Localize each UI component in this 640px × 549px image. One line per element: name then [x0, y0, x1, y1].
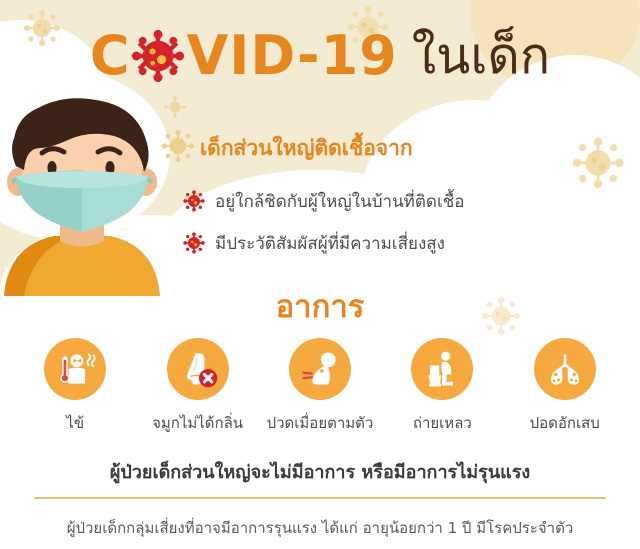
virus-icon: [570, 135, 626, 191]
symptom-label: ปวดเมื่อยตามตัว: [267, 411, 374, 435]
symptom-label: ไข้: [66, 411, 84, 435]
list-item-label: มีประวัติสัมผัสผู้ที่มีความเสี่ยงสูง: [215, 230, 445, 257]
symptoms-list: ไข้ จมูกไม่ได้กลิ่น: [0, 338, 640, 435]
symptom-item-no-smell: จมูกไม่ได้กลิ่น: [139, 338, 257, 435]
list-item: มีประวัติสัมผัสผู้ที่มีความเสี่ยงสูง: [183, 230, 465, 256]
summary-note: ผู้ป่วยเด็กส่วนใหญ่จะไม่มีอาการ หรือมีอา…: [0, 457, 640, 486]
virus-icon: [131, 29, 185, 83]
symptom-item-diarrhea: ถ่ายเหลว: [383, 338, 501, 435]
body-ache-icon: [289, 338, 351, 400]
list-item: อยู่ใกล้ชิดกับผู้ใหญ่ในบ้านที่ติดเชื้อ: [183, 188, 465, 214]
title-covid-suffix: VID-19: [186, 29, 397, 83]
virus-icon: [183, 190, 205, 212]
fever-thermometer-icon: [44, 338, 106, 400]
transmission-list: อยู่ใกล้ชิดกับผู้ใหญ่ในบ้านที่ติดเชื้อ: [183, 188, 465, 272]
symptom-item-pneumonia: ปอดอักเสบ: [506, 338, 624, 435]
symptom-item-body-ache: ปวดเมื่อยตามตัว: [261, 338, 379, 435]
transmission-heading: เด็กส่วนใหญ่ติดเชื้อจาก: [200, 132, 413, 165]
symptom-label: ปอดอักเสบ: [530, 411, 600, 435]
page-title: C: [0, 16, 640, 96]
symptom-label: ถ่ายเหลว: [413, 411, 472, 435]
title-covid-text: C: [90, 29, 398, 83]
title-letter-c: C: [90, 29, 131, 83]
symptom-item-fever: ไข้: [16, 338, 134, 435]
virus-icon: [183, 232, 205, 254]
title-thai-suffix: ในเด็ก: [412, 31, 550, 81]
symptoms-heading: อาการ: [0, 281, 640, 331]
list-item-label: อยู่ใกล้ชิดกับผู้ใหญ่ในบ้านที่ติดเชื้อ: [215, 188, 465, 215]
symptom-label: จมูกไม่ได้กลิ่น: [152, 411, 243, 435]
nose-no-smell-icon: [167, 338, 229, 400]
diarrhea-toilet-icon: [411, 338, 473, 400]
divider: [34, 497, 606, 499]
infographic-root: C: [0, 0, 640, 549]
risk-group-note: ผู้ป่วยเด็กกลุ่มเสี่ยงที่อาจมีอาการรุนแร…: [0, 516, 640, 540]
child-wearing-mask-illustration: [0, 96, 170, 296]
lungs-pneumonia-icon: [534, 338, 596, 400]
